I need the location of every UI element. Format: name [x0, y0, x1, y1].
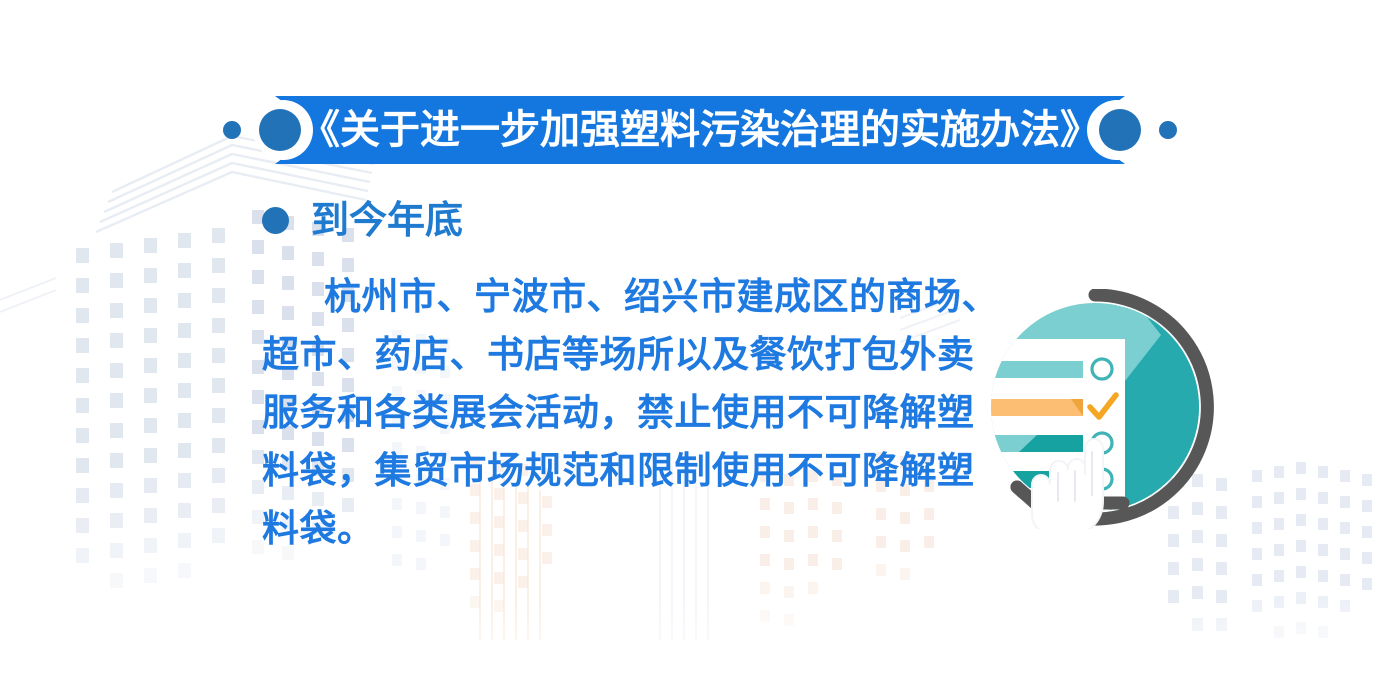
- banner-title: 《关于进一步加强塑料污染治理的实施办法》: [0, 96, 1400, 164]
- body-line: 料袋，集贸市场规范和限制使用不可降解塑: [262, 442, 974, 500]
- body-line: 超市、药店、书店等场所以及餐饮打包外卖: [262, 326, 974, 384]
- bullet-dot-icon: [262, 207, 289, 234]
- section-heading-label: 到今年底: [311, 201, 463, 239]
- checklist-illustration: [975, 289, 1215, 529]
- checklist-bar-2: [975, 399, 1083, 416]
- body-line: 杭州市、宁波市、绍兴市建成区的商场、: [262, 268, 974, 326]
- checklist-bar-1: [977, 361, 1083, 378]
- body-line: 服务和各类展会活动，禁止使用不可降解塑: [262, 384, 974, 442]
- banner-title-text: 《关于进一步加强塑料污染治理的实施办法》: [300, 107, 1100, 153]
- body-line: 料袋。: [262, 500, 974, 558]
- body-paragraph: 杭州市、宁波市、绍兴市建成区的商场、 超市、药店、书店等场所以及餐饮打包外卖 服…: [262, 268, 974, 558]
- poster-canvas: 《关于进一步加强塑料污染治理的实施办法》 到今年底 杭州市、宁波市、绍兴市建成区…: [0, 0, 1400, 700]
- section-heading: 到今年底: [262, 196, 463, 244]
